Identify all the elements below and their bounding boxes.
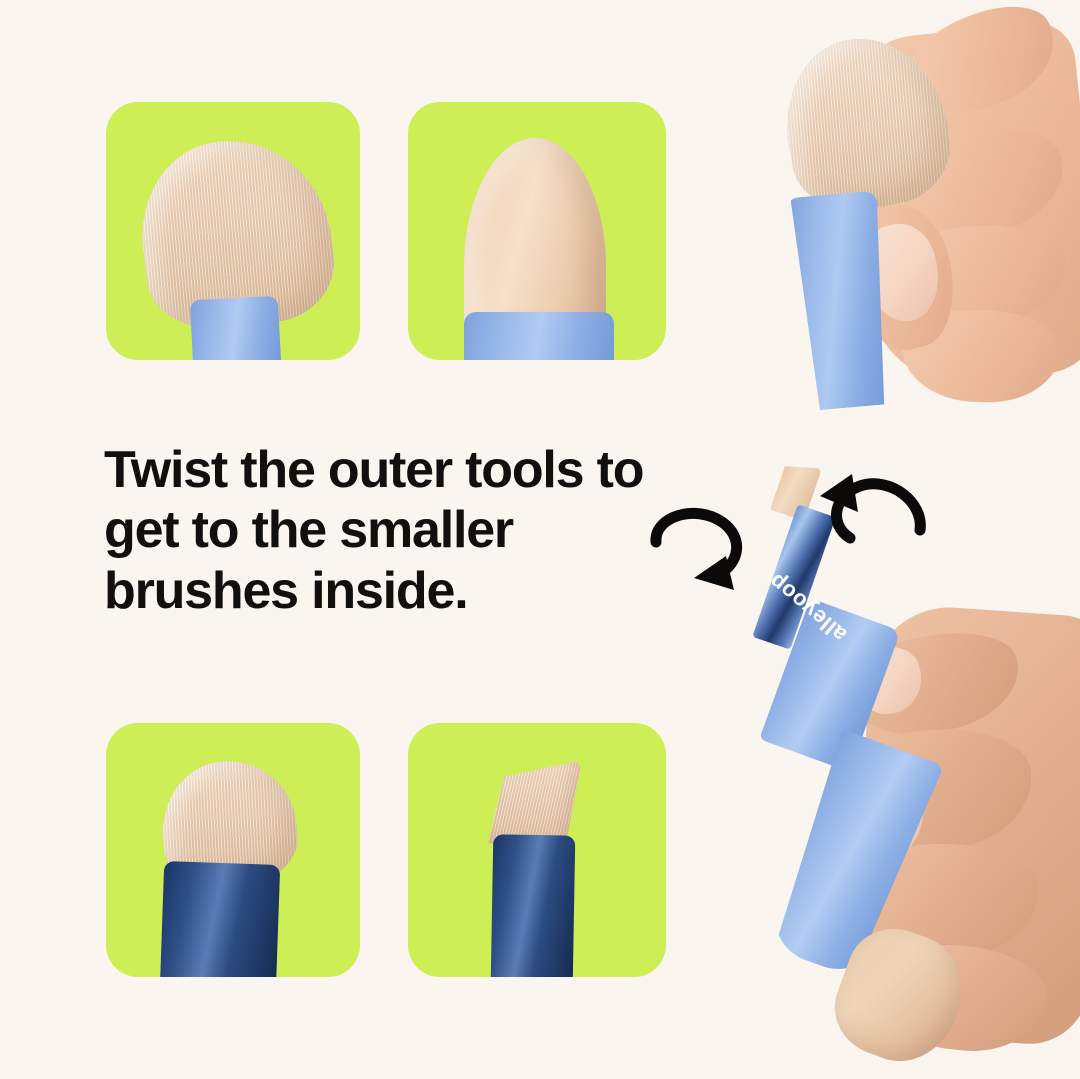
liner-brush-bristles <box>488 758 582 847</box>
tile-sponge <box>408 102 666 360</box>
curved-arrow-right-icon <box>648 498 778 608</box>
page-headline: Twist the outer tools to get to the smal… <box>104 440 664 621</box>
powder-brush-product <box>780 30 980 430</box>
tile-powder-brush <box>106 102 360 360</box>
tile-liner-brush <box>408 723 666 977</box>
concealer-brush-ferrule <box>160 861 280 977</box>
liner-brush-ferrule <box>491 834 576 977</box>
powder-brush-barrel <box>785 190 895 411</box>
marketing-image-canvas: Twist the outer tools to get to the smal… <box>0 0 1080 1079</box>
sponge-ferrule <box>464 312 614 360</box>
curved-arrow-left-icon <box>798 468 928 578</box>
alleyoop-product: alleyoop <box>760 600 990 1070</box>
tile-concealer-brush <box>106 723 360 977</box>
powder-brush-ferrule <box>190 296 282 360</box>
